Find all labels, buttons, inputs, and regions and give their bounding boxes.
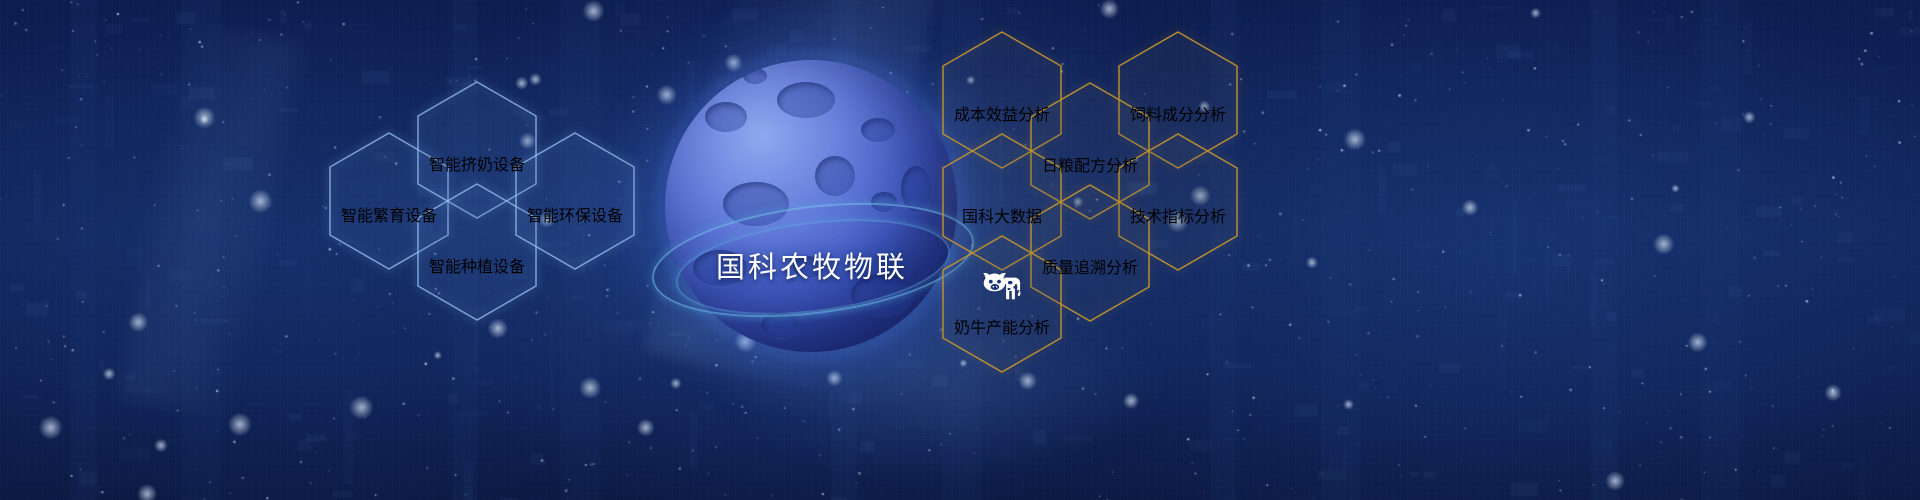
iot-hero-banner: 智能繁育设备智能挤奶设备智能种植设备智能环保设备 国科农牧物联 成本效益分析饲料… [0, 0, 1920, 500]
page-title: 国科农牧物联 [647, 244, 977, 286]
center-planet-group: 国科农牧物联 [647, 46, 977, 376]
equipment-hex-env[interactable] [516, 133, 634, 269]
